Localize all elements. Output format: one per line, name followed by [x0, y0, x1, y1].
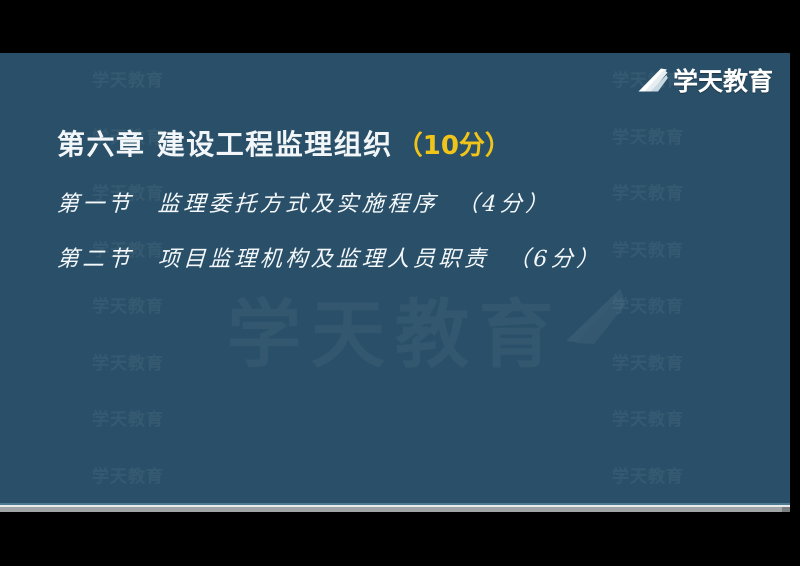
watermark-column-left: 学天教育 学天教育 学天教育 学天教育 学天教育 学天教育 学天教育 学天教育 — [92, 53, 252, 505]
slide-title-score: （10分） — [397, 125, 511, 162]
watermark-tile: 学天教育 — [612, 336, 772, 393]
video-player-stage: 学天教育 学天教育 学天教育 学天教育 学天教育 学天教育 学天教育 学天教育 … — [0, 0, 800, 566]
watermark-tile: 学天教育 — [92, 336, 252, 393]
progress-bar-track-end[interactable] — [782, 507, 790, 512]
watermark-tile: 学天教育 — [92, 392, 252, 449]
section-2-text: 项目监理机构及监理人员职责 — [157, 247, 490, 272]
section-1-label: 第一节 — [56, 192, 134, 217]
slide-canvas: 学天教育 学天教育 学天教育 学天教育 学天教育 学天教育 学天教育 学天教育 … — [0, 53, 790, 505]
watermark-tile: 学天教育 — [612, 449, 772, 506]
progress-bar-track[interactable] — [0, 507, 782, 512]
section-line-1: 第一节 监理委托方式及实施程序 （4分） — [56, 186, 552, 218]
section-2-label: 第二节 — [56, 247, 134, 272]
watermark-tile: 学天教育 — [612, 392, 772, 449]
slide-title-text: 第六章 建设工程监理组织 — [57, 123, 393, 163]
brand-logo-text: 学天教育 — [673, 62, 773, 98]
watermark-tile: 学天教育 — [92, 449, 252, 506]
watermark-tile: 学天教育 — [92, 53, 252, 110]
watermark-tile: 学天教育 — [612, 166, 772, 223]
letterbox-top — [0, 0, 800, 53]
watermark-tile: 学天教育 — [92, 279, 252, 336]
section-line-2: 第二节 项目监理机构及监理人员职责 （6分） — [56, 241, 603, 273]
watermark-tile: 学天教育 — [612, 223, 772, 280]
center-watermark-swoosh-icon — [562, 285, 628, 345]
slide-title: 第六章 建设工程监理组织 （10分） — [57, 123, 511, 163]
section-1-score: （4分） — [456, 192, 551, 217]
swoosh-road-icon — [637, 67, 668, 93]
watermark-column-right: 学天教育 学天教育 学天教育 学天教育 学天教育 学天教育 学天教育 学天教育 — [612, 53, 772, 505]
section-1-text: 监理委托方式及实施程序 — [157, 192, 439, 217]
video-progress-bar[interactable] — [0, 503, 790, 512]
letterbox-bottom — [0, 512, 800, 566]
watermark-tile: 学天教育 — [612, 110, 772, 167]
letterbox-right — [790, 0, 800, 566]
brand-logo: 学天教育 — [637, 63, 773, 97]
section-2-score: （6分） — [507, 247, 602, 272]
center-watermark: 学天教育 — [0, 275, 790, 382]
watermark-tile: 学天教育 — [612, 279, 772, 336]
